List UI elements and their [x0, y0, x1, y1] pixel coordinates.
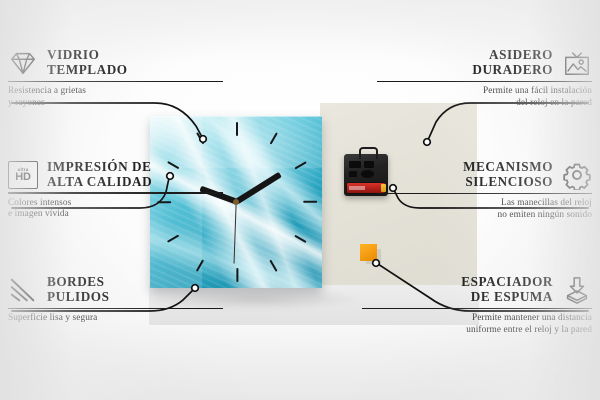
feature-header: VIDRIOTEMPLADO [8, 48, 223, 78]
infographic-canvas: VIDRIOTEMPLADO Resistencia a grietasy ra… [0, 0, 600, 400]
feature-header: MECANISMOSILENCIOSO [377, 160, 592, 190]
feature-description: Permite mantener una distanciauniforme e… [362, 313, 592, 335]
feature-header: ultra HD IMPRESIÓN DEALTA CALIDAD [8, 160, 223, 189]
feature-description: Colores intensose imagen vívida [8, 198, 223, 220]
feature-divider [377, 81, 592, 82]
feature-title: ASIDERODURADERO [472, 48, 553, 77]
feature-vidrio-templado[interactable]: VIDRIOTEMPLADO Resistencia a grietasy ra… [8, 48, 223, 109]
feature-header: ASIDERODURADERO [377, 48, 592, 78]
mechanism-detail [349, 171, 357, 177]
feature-title: ESPACIADORDE ESPUMA [461, 275, 553, 304]
feature-header: BORDESPULIDOS [8, 275, 223, 305]
ultra-hd-badge-icon: ultra HD [8, 161, 38, 189]
mechanism-detail [361, 170, 374, 178]
gear-icon [562, 160, 592, 190]
feature-divider [8, 192, 223, 193]
hanging-frame-icon [562, 48, 592, 78]
feature-divider [8, 81, 223, 82]
feature-bordes-pulidos[interactable]: BORDESPULIDOS Superficie lisa y segura [8, 275, 223, 325]
mechanism-detail [349, 161, 361, 168]
foam-spacer [360, 244, 377, 261]
feature-description: Resistencia a grietasy rayones [8, 86, 223, 108]
feature-header: ESPACIADORDE ESPUMA [362, 275, 592, 305]
feature-title: MECANISMOSILENCIOSO [463, 160, 553, 189]
diagonal-lines-icon [8, 275, 38, 305]
diamond-icon [8, 48, 38, 78]
clock-center-cap [233, 199, 239, 205]
feature-title: VIDRIOTEMPLADO [47, 48, 128, 77]
down-arrow-foam-icon [562, 275, 592, 305]
feature-description: Las manecillas del relojno emiten ningún… [377, 198, 592, 220]
feature-title: BORDESPULIDOS [47, 275, 109, 304]
feature-description: Superficie lisa y segura [8, 313, 223, 324]
feature-espaciador-de-espuma[interactable]: ESPACIADORDE ESPUMA Permite mantener una… [362, 275, 592, 336]
clock-tick [236, 268, 238, 282]
feature-impresion-alta-calidad[interactable]: ultra HD IMPRESIÓN DEALTA CALIDAD Colore… [8, 160, 223, 220]
feature-title: IMPRESIÓN DEALTA CALIDAD [47, 160, 152, 189]
mechanism-detail [364, 161, 374, 168]
battery-label-band [349, 186, 365, 190]
feature-mecanismo-silencioso[interactable]: MECANISMOSILENCIOSO Las manecillas del r… [377, 160, 592, 221]
hd-badge-hd-text: HD [15, 172, 31, 183]
feature-description: Permite una fácil instalacióndel reloj e… [377, 86, 592, 108]
feature-divider [377, 193, 592, 194]
feature-asidero-duradero[interactable]: ASIDERODURADERO Permite una fácil instal… [377, 48, 592, 109]
feature-divider [362, 308, 592, 309]
mechanism-hanger-loop [359, 147, 378, 159]
feature-divider [8, 308, 223, 309]
